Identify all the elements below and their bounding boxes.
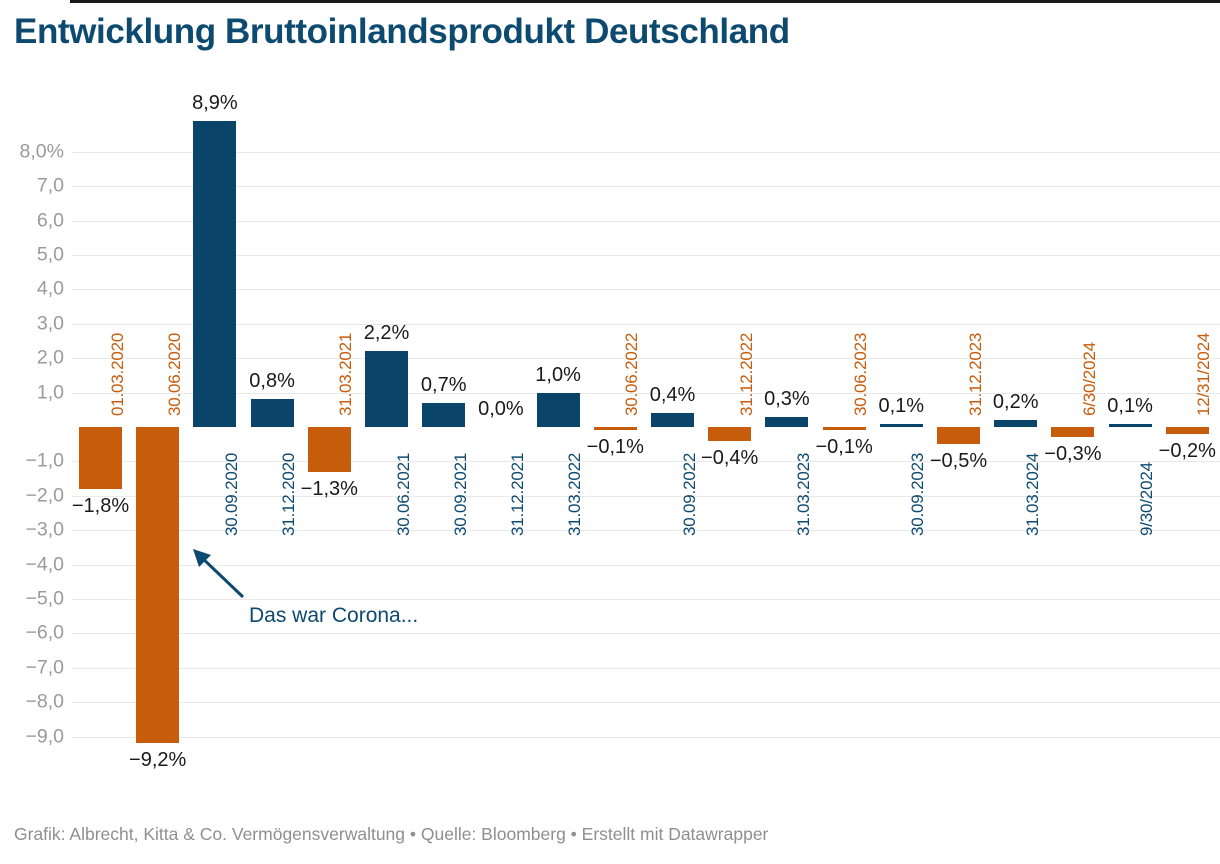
bar[interactable] [880,424,923,427]
y-axis-tick-label: 7,0 [0,175,64,198]
y-axis-tick-label: 2,0 [0,347,64,370]
bar[interactable] [1051,427,1094,437]
bar-value-label: −1,3% [301,478,358,501]
gridline [72,668,1220,669]
y-axis-tick-label: 5,0 [0,244,64,267]
bar-value-label: 0,1% [1107,395,1153,418]
x-axis-date-label: 30.06.2022 [622,333,642,416]
bar[interactable] [422,403,465,427]
bar-value-label: 0,7% [421,374,467,397]
bar[interactable] [1109,424,1152,427]
gridline [72,496,1220,497]
x-axis-date-label: 30.06.2020 [165,333,185,416]
x-axis-date-label: 30.09.2020 [222,453,242,536]
bar[interactable] [708,427,751,441]
y-axis-tick-label: 3,0 [0,312,64,335]
chart-footer: Grafik: Albrecht, Kitta & Co. Vermögensv… [14,824,768,845]
gridline [72,324,1220,325]
x-axis-date-label: 30.06.2023 [851,333,871,416]
x-axis-date-label: 31.12.2023 [966,333,986,416]
bar-value-label: −0,3% [1044,443,1101,466]
x-axis-date-label: 30.09.2023 [908,453,928,536]
gridline [72,393,1220,394]
y-axis-tick-label: −2,0 [0,484,64,507]
bar[interactable] [193,121,236,427]
bar[interactable] [765,417,808,427]
x-axis-date-label: 30.09.2021 [451,453,471,536]
y-axis-tick-label: −9,0 [0,725,64,748]
bar-value-label: 8,9% [192,92,238,115]
bar-value-label: −0,2% [1159,440,1216,463]
gridline [72,186,1220,187]
gridline [72,358,1220,359]
y-axis-tick-label: −3,0 [0,519,64,542]
chart-page: Entwicklung Bruttoinlandsprodukt Deutsch… [0,0,1220,864]
x-axis-date-label: 31.12.2020 [279,453,299,536]
bar-value-label: 0,1% [879,395,925,418]
bar[interactable] [537,393,580,427]
bar[interactable] [594,427,637,430]
bar[interactable] [937,427,980,444]
x-axis-date-label: 31.03.2022 [565,453,585,536]
bar-chart-plot-area: 8,0%7,06,05,04,03,02,01,0−1,0−2,0−3,0−4,… [0,0,1220,800]
gridline [72,255,1220,256]
y-axis-tick-label: −5,0 [0,588,64,611]
bar-value-label: 0,0% [478,398,524,421]
bar-value-label: −0,5% [930,450,987,473]
bar-value-label: 0,8% [249,370,295,393]
gridline [72,530,1220,531]
y-axis-tick-label: −4,0 [0,553,64,576]
bar[interactable] [251,399,294,427]
bar-value-label: 0,4% [650,384,696,407]
y-axis-tick-label: 4,0 [0,278,64,301]
bar-value-label: 0,3% [764,388,810,411]
bar-value-label: −0,4% [701,447,758,470]
x-axis-date-label: 6/30/2024 [1080,342,1100,416]
arrow-up-left-icon [185,545,255,615]
gridline [72,737,1220,738]
x-axis-date-label: 31.12.2021 [508,453,528,536]
bar[interactable] [994,420,1037,427]
annotation-label: Das war Corona... [249,604,418,628]
bar[interactable] [136,427,179,743]
bar-value-label: −0,1% [815,436,872,459]
y-axis-tick-label: −7,0 [0,656,64,679]
bar[interactable] [651,413,694,427]
gridline [72,221,1220,222]
bar-value-label: −9,2% [129,749,186,772]
bar-value-label: −0,1% [587,436,644,459]
y-axis-tick-label: 8,0% [0,140,64,163]
x-axis-date-label: 9/30/2024 [1137,462,1157,536]
y-axis-tick-label: −6,0 [0,622,64,645]
x-axis-date-label: 31.03.2021 [336,333,356,416]
y-axis-tick-label: −1,0 [0,450,64,473]
bar[interactable] [308,427,351,472]
x-axis-date-label: 01.03.2020 [108,333,128,416]
x-axis-date-label: 31.03.2024 [1023,453,1043,536]
zero-baseline [70,0,1220,3]
bar-value-label: 0,2% [993,391,1039,414]
gridline [72,152,1220,153]
x-axis-date-label: 30.09.2022 [680,453,700,536]
bar-value-label: 1,0% [535,364,581,387]
y-axis-tick-label: 6,0 [0,209,64,232]
gridline [72,633,1220,634]
gridline [72,702,1220,703]
bar-value-label: 2,2% [364,322,410,345]
bar[interactable] [365,351,408,427]
y-axis-tick-label: 1,0 [0,381,64,404]
x-axis-date-label: 31.12.2022 [737,333,757,416]
bar[interactable] [823,427,866,430]
x-axis-date-label: 31.03.2023 [794,453,814,536]
bar[interactable] [1166,427,1209,434]
x-axis-date-label: 12/31/2024 [1194,333,1214,416]
x-axis-date-label: 30.06.2021 [394,453,414,536]
bar[interactable] [79,427,122,489]
bar-value-label: −1,8% [72,495,129,518]
gridline [72,289,1220,290]
y-axis-tick-label: −8,0 [0,691,64,714]
